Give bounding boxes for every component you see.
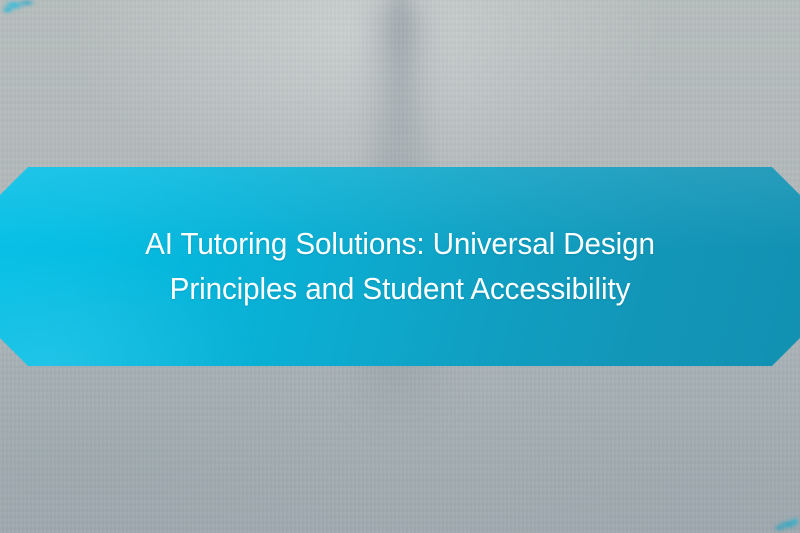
title-banner: AI Tutoring Solutions: Universal Design … xyxy=(0,167,800,366)
page-title: AI Tutoring Solutions: Universal Design … xyxy=(85,222,715,310)
slide-canvas: AI Tutoring Solutions: Universal Design … xyxy=(0,0,800,533)
